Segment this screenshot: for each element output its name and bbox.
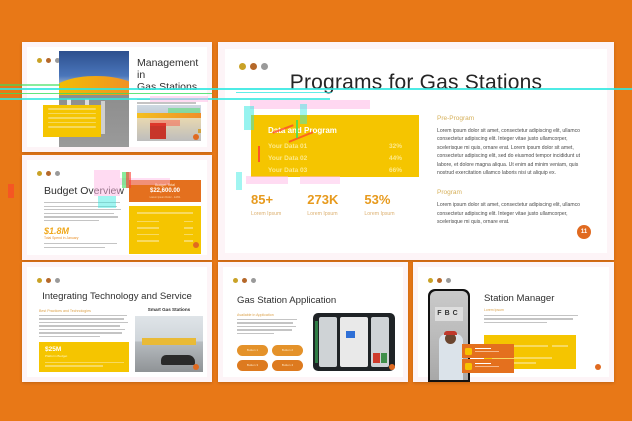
page-badge — [193, 364, 199, 370]
section-heading-program: Program — [437, 189, 585, 196]
presentation-mockup-canvas: Management inGas Stations Budget Overvie… — [0, 0, 632, 421]
application-button-3[interactable]: Button 3 — [237, 360, 268, 371]
budget-total-caption: Lorem Ipsum Dolor - 12/01 — [129, 196, 201, 199]
integrating-big-number: $25M — [45, 346, 129, 353]
slide-manager-title: Station Manager — [484, 293, 554, 304]
slide-integrating-title: Integrating Technology and Service — [27, 291, 207, 302]
section-body-program: Lorem ipsum dolor sit amet, consectetur … — [437, 201, 585, 226]
stat-number: 85+ — [251, 192, 281, 207]
slide-management[interactable]: Management inGas Stations — [22, 42, 212, 152]
application-body-text — [237, 319, 299, 336]
slide-budget[interactable]: Budget Overview $1.8M Total Spend in Jan… — [22, 155, 212, 260]
application-button-group: Button 1 Button 2 Button 3 Button 4 — [237, 345, 303, 371]
budget-big-number: $1.8M — [44, 226, 69, 236]
budget-total-label: Budget Total — [129, 183, 201, 187]
window-dots — [239, 63, 268, 70]
page-title: Programs for Gas Stations — [225, 71, 607, 95]
stat-item: 53% Lorem Ipsum — [364, 192, 394, 217]
stat-caption: Lorem Ipsum — [364, 211, 394, 217]
dot-gray-icon — [55, 278, 60, 283]
manager-subtitle: Lorem Ipsum — [484, 308, 504, 312]
dot-gray-icon — [261, 63, 268, 70]
table-row — [137, 234, 193, 236]
data-row-value: 66% — [389, 167, 402, 174]
stat-item: 85+ Lorem Ipsum — [251, 192, 281, 217]
page-badge — [595, 364, 601, 370]
section-body-pre-program: Lorem ipsum dolor sit amet, consectetur … — [437, 127, 585, 177]
slide-management-title: Management inGas Stations — [137, 57, 201, 93]
window-dots — [37, 278, 60, 283]
data-row-value: 32% — [389, 143, 402, 150]
gas-station-photo-small — [137, 105, 201, 141]
dot-yellow-icon — [37, 171, 42, 176]
table-row — [137, 221, 193, 223]
dot-orange-icon — [250, 63, 257, 70]
integrating-big-caption: Platform Budget — [45, 354, 129, 358]
dot-orange-icon — [437, 278, 442, 283]
glitch-block — [8, 184, 14, 198]
slide-programs-inner: Programs for Gas Stations Data and Progr… — [225, 49, 607, 253]
page-badge — [389, 364, 395, 370]
budget-breakdown-card — [129, 206, 201, 254]
table-row: Your Data 03 66% — [268, 167, 402, 174]
dot-orange-icon — [46, 278, 51, 283]
dot-orange-icon — [46, 171, 51, 176]
integrating-right-subtitle: Smart Gas Stations — [135, 307, 203, 312]
section-heading-pre-program: Pre-Program — [437, 115, 585, 122]
stats-row: 85+ Lorem Ipsum 273K Lorem Ipsum 53% Lor… — [251, 192, 431, 217]
slide-management-inner: Management inGas Stations — [27, 47, 207, 147]
window-dots — [37, 58, 60, 63]
slide-budget-inner: Budget Overview $1.8M Total Spend in Jan… — [27, 160, 207, 255]
slide-gas-station-application[interactable]: Gas Station Application Available in App… — [218, 262, 408, 382]
slide-application-inner: Gas Station Application Available in App… — [223, 267, 403, 377]
budget-body-text — [44, 202, 122, 224]
stat-item: 273K Lorem Ipsum — [307, 192, 338, 217]
yellow-caption-card — [43, 105, 101, 137]
dot-gray-icon — [446, 278, 451, 283]
stat-number: 273K — [307, 192, 338, 207]
budget-total-amount: $22,600.00 — [129, 188, 201, 194]
window-dots — [37, 171, 60, 176]
slide-manager-inner: FBC Station Manager Lorem Ipsum 87 — [418, 267, 609, 377]
data-card-heading: Data and Program — [268, 126, 419, 135]
stat-caption: Lorem Ipsum — [251, 211, 281, 217]
station-sign-text: FBC — [435, 307, 463, 321]
application-button-1[interactable]: Button 1 — [237, 345, 268, 356]
application-button-2[interactable]: Button 2 — [272, 345, 303, 356]
budget-body-text-2 — [44, 243, 122, 250]
manager-cap — [444, 331, 457, 335]
smart-gas-station-photo — [135, 316, 203, 372]
dot-yellow-icon — [37, 58, 42, 63]
data-row-label: Your Data 02 — [268, 155, 307, 162]
window-dots — [233, 278, 256, 283]
dot-yellow-icon — [239, 63, 246, 70]
integrating-budget-card: $25M Platform Budget — [39, 342, 129, 372]
slide-integrating-inner: Integrating Technology and Service Best … — [27, 267, 207, 377]
dot-yellow-icon — [37, 278, 42, 283]
slide-application-title: Gas Station Application — [237, 295, 336, 306]
page-number-badge: 11 — [577, 225, 591, 239]
budget-breakdown-heading — [137, 212, 193, 214]
table-row — [137, 227, 193, 229]
table-row — [137, 240, 193, 242]
slide-station-manager[interactable]: FBC Station Manager Lorem Ipsum 87 — [413, 262, 614, 382]
manager-notification-1 — [462, 344, 514, 358]
integrating-body-text — [39, 315, 129, 339]
programs-text-column: Pre-Program Lorem ipsum dolor sit amet, … — [437, 115, 585, 227]
fuel-pump-photo — [313, 313, 395, 371]
notification-icon — [465, 363, 472, 370]
data-row-value: 44% — [389, 155, 402, 162]
table-row: Your Data 01 32% — [268, 143, 402, 150]
data-row-label: Your Data 01 — [268, 143, 307, 150]
budget-total-card: Budget Total $22,600.00 Lorem Ipsum Dolo… — [129, 180, 201, 202]
notification-icon — [465, 348, 472, 355]
data-row-label: Your Data 03 — [268, 167, 307, 174]
slide-integrating-technology[interactable]: Integrating Technology and Service Best … — [22, 262, 212, 382]
budget-big-caption: Total Spend in January — [44, 236, 79, 240]
page-badge — [193, 134, 199, 140]
manager-notification-2 — [462, 359, 514, 373]
page-badge — [193, 242, 199, 248]
dot-yellow-icon — [428, 278, 433, 283]
application-subtitle: Available in Application — [237, 313, 274, 317]
manager-body-text — [484, 315, 580, 325]
application-button-4[interactable]: Button 4 — [272, 360, 303, 371]
integrating-left-subtitle: Best Practices and Technologies — [39, 309, 91, 313]
dot-orange-icon — [242, 278, 247, 283]
table-row: Your Data 02 44% — [268, 155, 402, 162]
dot-gray-icon — [55, 171, 60, 176]
dot-orange-icon — [46, 58, 51, 63]
dot-gray-icon — [251, 278, 256, 283]
stat-caption: Lorem Ipsum — [307, 211, 338, 217]
window-dots — [428, 278, 451, 283]
data-and-program-card: Data and Program Your Data 01 32% Your D… — [251, 115, 419, 177]
slide-budget-title: Budget Overview — [44, 185, 124, 197]
dot-yellow-icon — [233, 278, 238, 283]
stat-number: 53% — [364, 192, 394, 207]
slide-programs-main[interactable]: Programs for Gas Stations Data and Progr… — [218, 42, 614, 260]
